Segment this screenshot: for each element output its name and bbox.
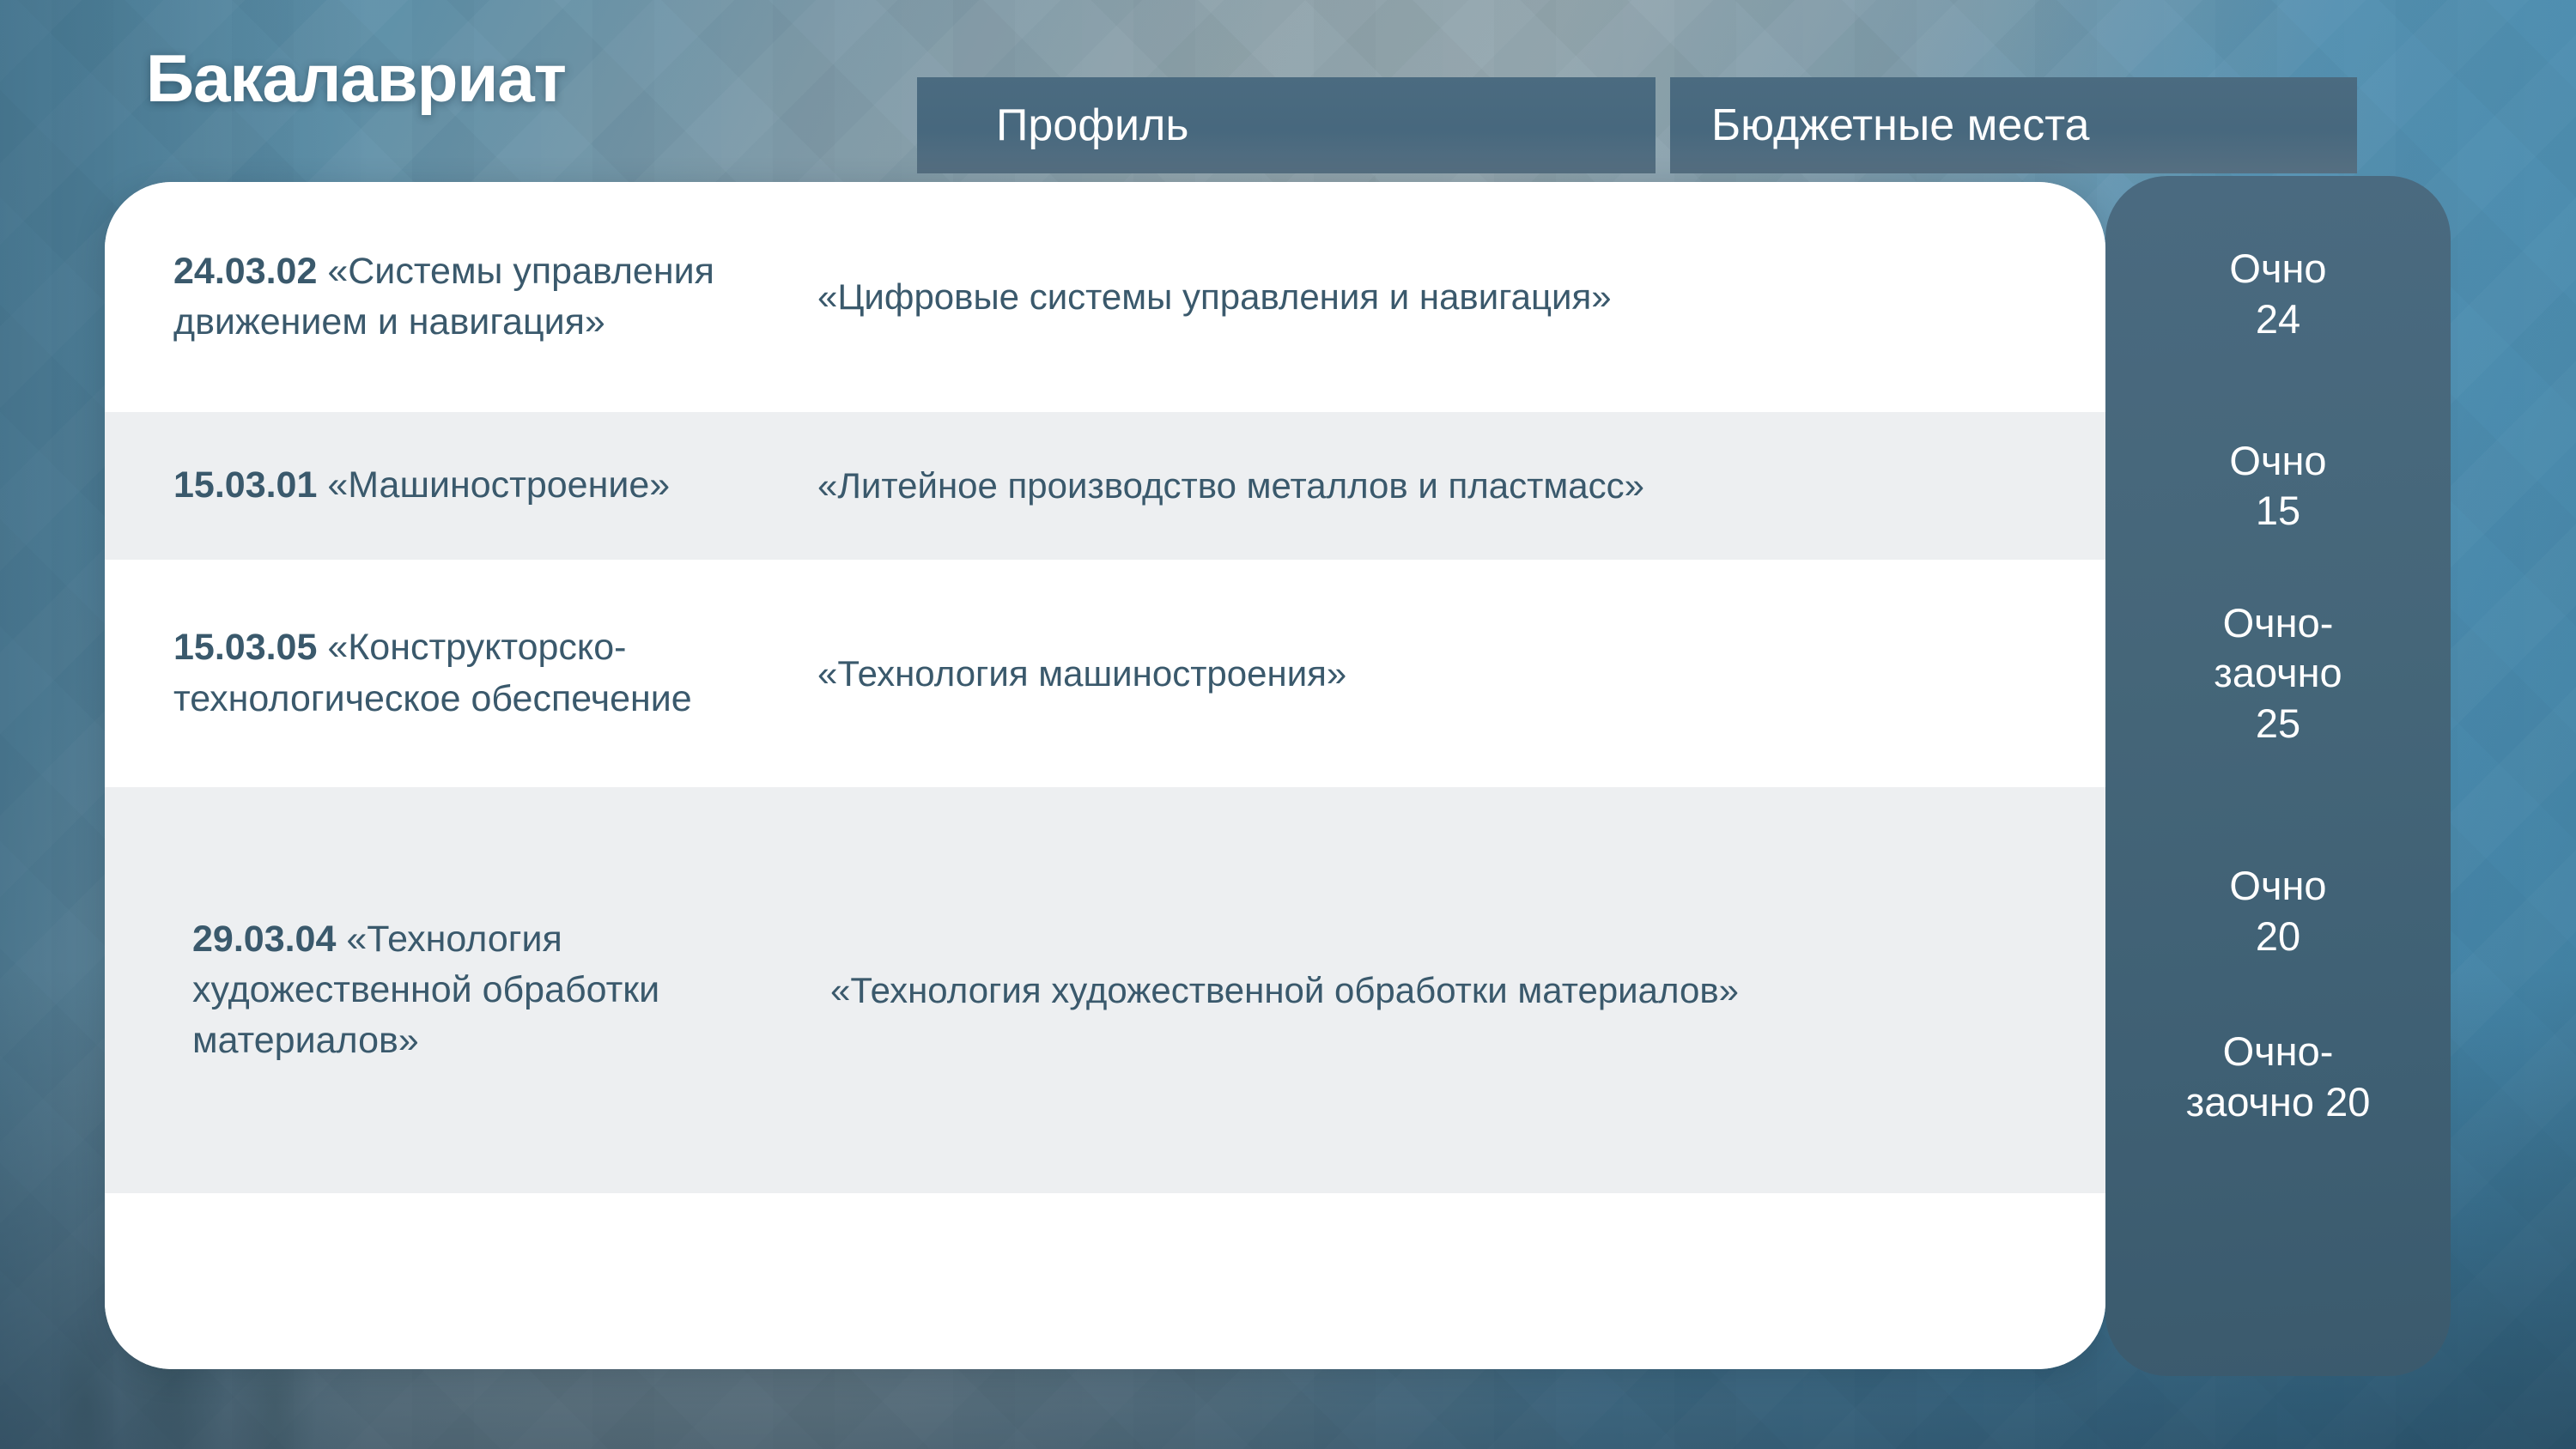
page-title: Бакалавриат [146,39,566,118]
table-row[interactable]: 24.03.02 «Системы управления движением и… [105,182,2105,412]
budget-places-cell: Очно 15 [2105,412,2451,560]
budget-places-cell: Очно 24 [2105,176,2451,412]
budget-places-value: Очно 24 [2229,244,2326,344]
program-code: 15.03.05 [173,627,317,668]
budget-places-group-primary: Очно 20 [2229,861,2326,961]
program-code: 24.03.02 [173,251,317,292]
program-code-cell: 15.03.05 «Конструкторско-технологическое… [173,622,744,724]
program-code-cell: 29.03.04 «Технология художественной обра… [173,914,744,1067]
program-profile-cell: «Технология художественной обработки мат… [744,966,2105,1016]
table-row[interactable]: 29.03.04 «Технология художественной обра… [105,787,2105,1193]
budget-places-value-primary: Очно 20 [2229,861,2326,961]
budget-places-sidebar: Очно 24 Очно 15 Очно- заочно 25 Очно 20 … [2105,176,2451,1376]
header-tab-budget-places-label: Бюджетные места [1711,100,2089,151]
program-code: 15.03.01 [173,464,317,506]
table-row[interactable]: 15.03.01 «Машиностроение» «Литейное прои… [105,412,2105,560]
program-profile-cell: «Литейное производство металлов и пластм… [744,461,2105,511]
program-name: «Машиностроение» [327,464,670,506]
slide-root: Бакалавриат Профиль Бюджетные места 24.0… [0,0,2576,1449]
program-code: 29.03.04 [192,919,336,960]
table-row-spacer [105,1193,2105,1369]
header-tab-profile-label: Профиль [996,100,1188,151]
budget-places-value: Очно 15 [2229,436,2326,537]
budget-places-cell: Очно- заочно 25 [2105,560,2451,787]
budget-places-cell-spacer [2105,1199,2451,1376]
budget-places-value: Очно- заочно 25 [2214,598,2342,749]
program-profile-cell: «Цифровые системы управления и навигация… [744,272,2105,322]
programs-table-card: 24.03.02 «Системы управления движением и… [105,182,2105,1369]
header-tab-profile[interactable]: Профиль [917,77,1656,173]
programs-table-body: 24.03.02 «Системы управления движением и… [105,182,2105,1369]
budget-places-cell: Очно 20 Очно- заочно 20 [2105,787,2451,1199]
program-profile-cell: «Технология машиностроения» [744,649,2105,699]
header-tab-budget-places[interactable]: Бюджетные места [1670,77,2357,173]
budget-places-group-secondary: Очно- заочно 20 [2186,1027,2371,1127]
program-code-cell: 24.03.02 «Системы управления движением и… [173,246,744,349]
table-row[interactable]: 15.03.05 «Конструкторско-технологическое… [105,560,2105,787]
program-code-cell: 15.03.01 «Машиностроение» [173,460,744,511]
budget-places-value-secondary: Очно- заочно 20 [2186,1027,2371,1127]
